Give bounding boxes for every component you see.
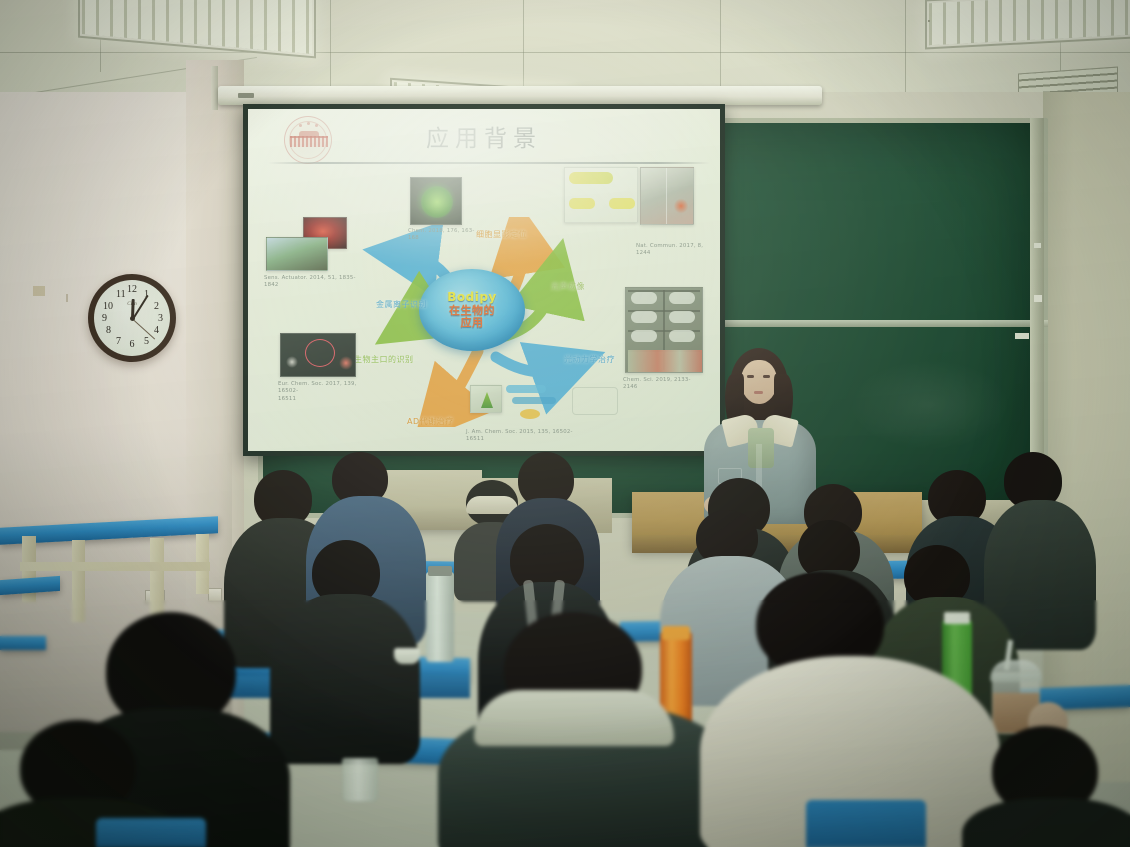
stacked-desk-third	[0, 636, 46, 650]
hub-line-1: Bodipy	[447, 291, 497, 304]
wall-nail	[66, 294, 68, 302]
thumb-photoacoustic-panel	[640, 167, 694, 225]
presentation-slide: 应用背景	[248, 109, 720, 451]
thumb-biomolecule-schematic	[280, 333, 356, 377]
presenter-mouth	[754, 391, 763, 394]
thumb-photoacoustic-molecule	[564, 167, 638, 223]
thumb-ad-mechanism	[470, 385, 502, 413]
thumb-metal-ion-assay	[266, 237, 328, 271]
student-front-center	[438, 612, 738, 847]
hub-line-3: 应用	[461, 317, 484, 329]
wall-clock: Clen 12 1 2 3 4 5 6 7 8 9 10 11	[88, 274, 176, 362]
slide-title: 应用背景	[248, 119, 720, 153]
glass-tumbler	[342, 758, 378, 802]
wall-mark-small	[33, 286, 45, 296]
board-eraser[interactable]	[1015, 333, 1029, 339]
slide-title-rule	[268, 162, 710, 164]
label-ad-therapy: AD代谢治疗	[407, 416, 454, 427]
student-mid-left-a	[270, 540, 420, 740]
classroom-lecture-photo: 应用背景	[0, 0, 1130, 847]
hoodie-collar	[474, 690, 674, 746]
board-clip	[1034, 243, 1041, 248]
chair-back-blue-2	[96, 818, 206, 847]
student-front-far-right	[962, 726, 1130, 847]
presenter-eye-right	[763, 375, 770, 378]
thumb-mouse-imaging-panel	[625, 287, 703, 373]
air-return-grille	[928, 20, 930, 22]
presenter-eye-left	[747, 375, 754, 378]
right-wall	[1043, 92, 1130, 782]
stacked-desk-leg-2	[72, 540, 85, 622]
cite-biomolecule: Eur. Chem. Soc. 2017, 139, 16502- 16511	[278, 381, 374, 403]
screen-bracket-left	[211, 66, 218, 110]
presenter-face	[741, 360, 777, 404]
slide-header: 应用背景	[248, 109, 720, 167]
board-clip-2	[1034, 295, 1042, 302]
cite-ad-mechanism: J. Am. Chem. Soc. 2015, 135, 16502- 1651…	[466, 429, 578, 444]
ad-schematic-drawing	[506, 381, 626, 425]
label-biomolecule-recognition: 生物主口的识别	[354, 354, 414, 365]
power-outlet-second[interactable]	[208, 588, 222, 602]
small-white-cup	[394, 648, 420, 664]
projector-screen: 应用背景	[243, 104, 725, 456]
slide-center-hub: Bodipy 在生物的 应用	[419, 269, 525, 351]
light-fixture-left	[78, 0, 316, 58]
chalk-smudge-2	[850, 360, 1010, 450]
label-metal-ion-recognition: 金属离子识别	[376, 299, 427, 310]
cite-metal-ion: Sens. Actuator. 2014, 51, 1835- 1842	[264, 275, 356, 290]
stacked-desk-rail	[20, 562, 210, 571]
cite-photoacoustic: Nat. Commun. 2017, 8, 1244	[636, 243, 720, 258]
label-photoacoustic-imaging: 光声成像	[551, 281, 585, 292]
clock-face: Clen 12 1 2 3 4 5 6 7 8 9 10 11	[94, 280, 170, 356]
chair-back-blue	[806, 800, 926, 847]
screen-control-button[interactable]	[238, 93, 254, 98]
thermos-cap	[428, 566, 452, 576]
label-photodynamic-therapy: 光动力学治疗	[564, 354, 615, 365]
light-fixture-right	[925, 0, 1130, 50]
projector-screen-housing[interactable]	[218, 86, 822, 105]
thumb-green-cell-micrograph	[410, 177, 462, 225]
cite-green-cell: Chem. 2018, 176, 163- 168	[408, 228, 488, 243]
hub-line-2: 在生物的	[449, 305, 495, 317]
